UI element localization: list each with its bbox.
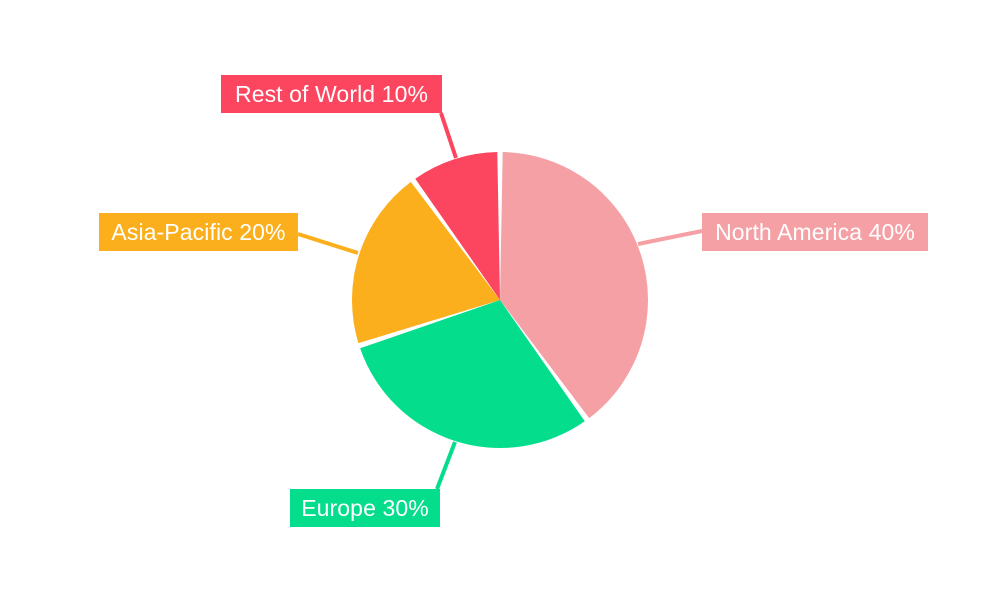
- pie-label-europe[interactable]: Europe 30%: [290, 489, 440, 527]
- pie-chart-figure: North America 40% Europe 30% Asia-Pacifi…: [0, 0, 1000, 600]
- pie-label-asia-pacific[interactable]: Asia-Pacific 20%: [99, 213, 298, 251]
- pie-slice-group: [352, 152, 648, 448]
- leader-line-north-america: [638, 231, 702, 244]
- leader-line-rest-of-world: [441, 113, 456, 158]
- pie-chart-canvas: [0, 0, 1000, 600]
- leader-line-europe: [437, 442, 455, 489]
- pie-label-north-america[interactable]: North America 40%: [702, 213, 928, 251]
- pie-label-rest-of-world[interactable]: Rest of World 10%: [221, 75, 442, 113]
- leader-line-asia-pacific: [298, 234, 358, 253]
